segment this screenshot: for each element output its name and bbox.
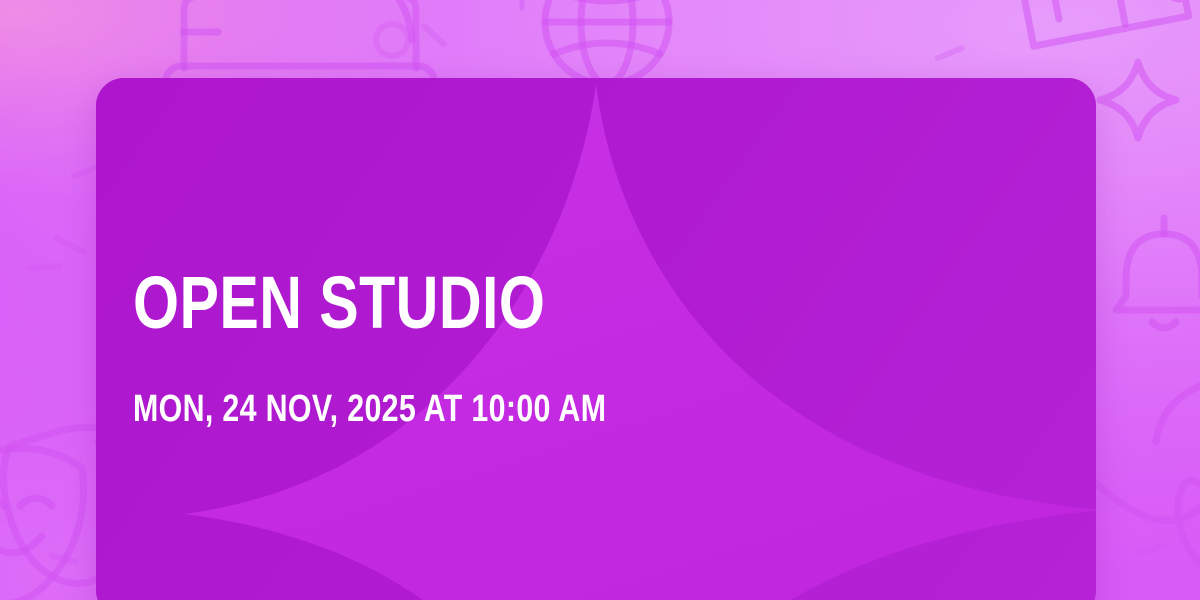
- event-datetime: MON, 24 NOV, 2025 AT 10:00 AM: [133, 390, 821, 428]
- event-card[interactable]: OPEN STUDIO MON, 24 NOV, 2025 AT 10:00 A…: [96, 78, 1096, 600]
- event-banner: OPEN STUDIO MON, 24 NOV, 2025 AT 10:00 A…: [0, 0, 1200, 600]
- card-content: OPEN STUDIO MON, 24 NOV, 2025 AT 10:00 A…: [133, 78, 993, 600]
- event-title: OPEN STUDIO: [133, 268, 821, 338]
